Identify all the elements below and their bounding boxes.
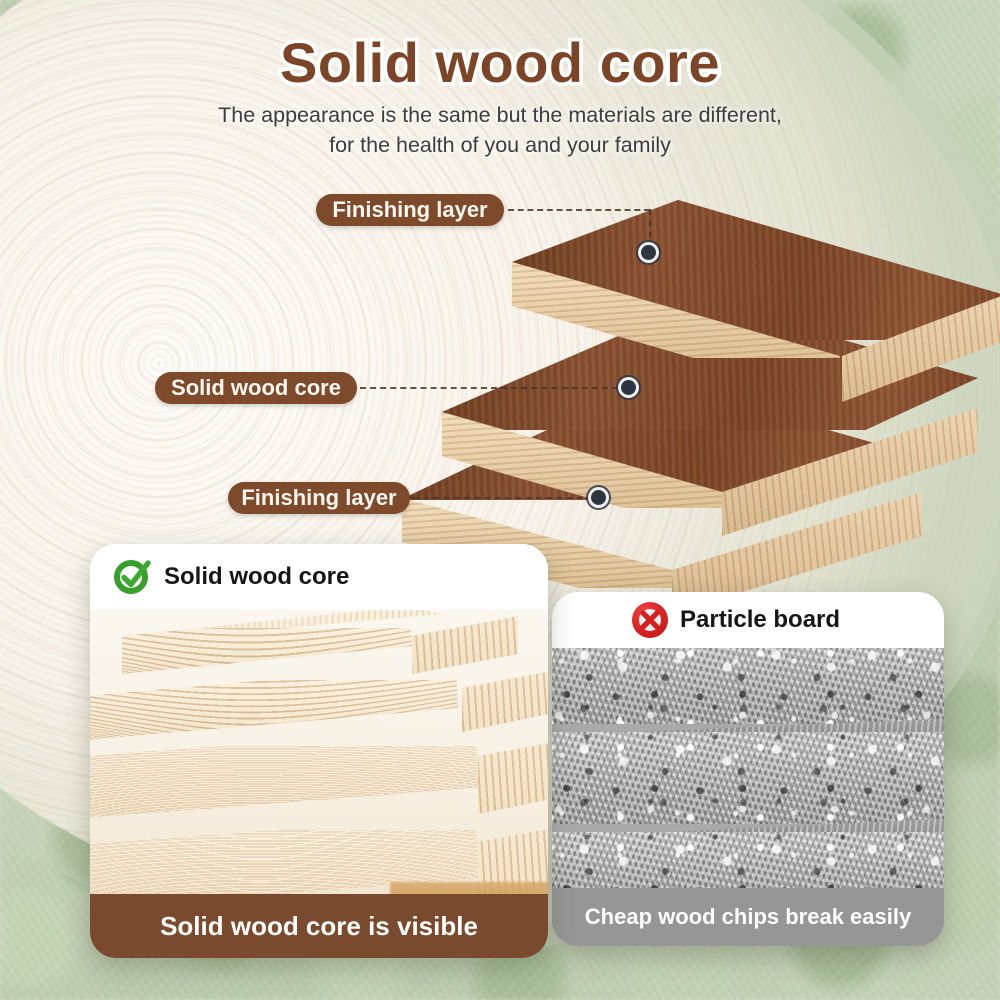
particle-board-caption-text: Cheap wood chips break easily bbox=[585, 904, 911, 930]
check-circle-icon bbox=[112, 558, 150, 596]
chipboard-slab-middle bbox=[552, 732, 944, 824]
callout-marker-top bbox=[641, 245, 656, 260]
page-title: Solid wood core bbox=[0, 30, 1000, 95]
particle-board-card-caption: Cheap wood chips break easily bbox=[552, 888, 944, 946]
callout-pill-finishing-layer-bottom[interactable]: Finishing layer bbox=[228, 482, 410, 514]
x-circle-icon bbox=[632, 602, 668, 638]
subtitle-line-1: The appearance is the same but the mater… bbox=[150, 100, 850, 130]
callout-pill-finishing-layer-top[interactable]: Finishing layer bbox=[316, 194, 504, 226]
page-subtitle: The appearance is the same but the mater… bbox=[150, 100, 850, 160]
particle-board-card-title: Particle board bbox=[680, 606, 840, 634]
comparison-card-particle-board: Particle board Cheap wood chips break ea… bbox=[552, 592, 944, 946]
callout-label: Finishing layer bbox=[241, 485, 396, 511]
callout-label: Finishing layer bbox=[332, 197, 487, 223]
subtitle-line-2: for the health of you and your family bbox=[150, 130, 850, 160]
callout-leader-line-bottom-horizontal bbox=[413, 497, 593, 499]
callout-leader-line-core-horizontal bbox=[360, 387, 628, 389]
callout-leader-line-top-horizontal bbox=[508, 209, 650, 211]
infographic-canvas: Solid wood core The appearance is the sa… bbox=[0, 0, 1000, 1000]
callout-label: Solid wood core bbox=[171, 375, 341, 401]
solid-wood-card-header: Solid wood core bbox=[90, 544, 548, 610]
callout-marker-bottom bbox=[591, 490, 606, 505]
callout-leader-line-top-vertical bbox=[649, 209, 651, 249]
solid-wood-card-title: Solid wood core bbox=[164, 563, 349, 591]
pine-plank-2-edge bbox=[90, 680, 464, 742]
particle-board-card-header: Particle board bbox=[552, 592, 944, 648]
callout-pill-solid-wood-core[interactable]: Solid wood core bbox=[155, 372, 357, 404]
comparison-card-solid-wood: Solid wood core Solid wood core is visib… bbox=[90, 544, 548, 958]
solid-wood-card-caption: Solid wood core is visible bbox=[90, 894, 548, 958]
solid-wood-caption-text: Solid wood core is visible bbox=[160, 911, 478, 942]
pine-plank-1-edge bbox=[110, 628, 420, 678]
board-stack-illustration bbox=[400, 200, 1000, 600]
chipboard-slab-top bbox=[552, 638, 944, 724]
pine-plank-3-edge bbox=[90, 746, 484, 830]
pine-plank-2-side bbox=[442, 662, 548, 738]
callout-marker-core bbox=[621, 380, 636, 395]
